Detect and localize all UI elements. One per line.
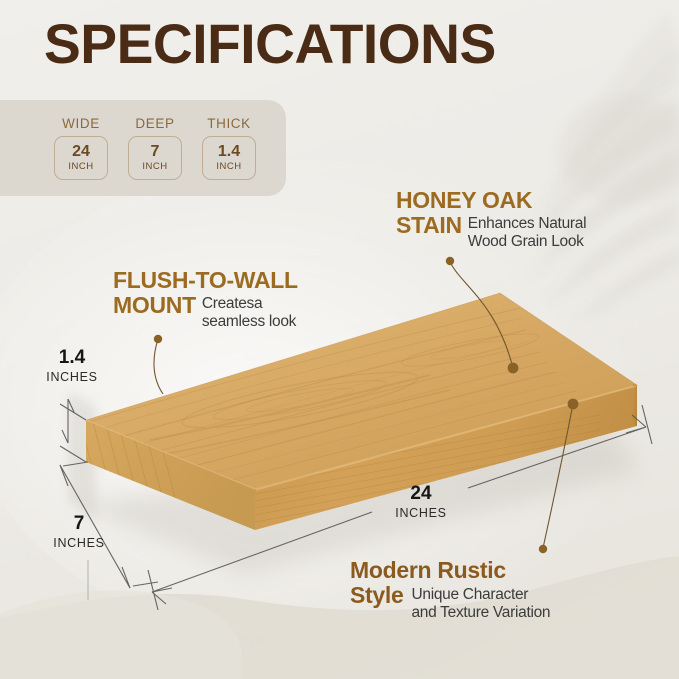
spec-unit-wide: INCH [68, 162, 93, 172]
dimension-unit-depth: INCHES [48, 536, 110, 550]
callout-honey-heading-line1: HONEY OAK [396, 188, 666, 213]
shelf-right-end-face [633, 384, 637, 426]
callout-modern-rustic-style: Modern Rustic Style Unique Character and… [350, 558, 650, 623]
leader-dot-rustic-surface [568, 399, 579, 410]
infographic-canvas: SPECIFICATIONS WIDE 24 INCH DEEP 7 INCH … [0, 0, 679, 679]
spec-value-thick: 1.4 [218, 144, 240, 160]
leader-dot-flush-mount [154, 335, 162, 343]
callout-rustic-sub-line2: and Texture Variation [411, 604, 550, 621]
callout-flush-sub: Createsa seamless look [202, 293, 296, 332]
dimension-unit-width: INCHES [382, 506, 460, 520]
dimension-value-depth: 7 [48, 514, 110, 533]
dimension-value-width: 24 [382, 484, 460, 503]
callout-rustic-heading: Modern Rustic Style Unique Character and… [350, 558, 650, 623]
callout-honey-oak-stain: HONEY OAK STAIN Enhances Natural Wood Gr… [396, 188, 666, 252]
spec-box-deep: 7 INCH [128, 136, 182, 180]
dimension-label-depth: 7 INCHES [48, 514, 110, 550]
callout-flush-sub-line1: Createsa [202, 295, 263, 312]
callout-flush-to-wall-mount: FLUSH-TO-WALL MOUNT Createsa seamless lo… [113, 268, 403, 332]
dimension-label-width: 24 INCHES [382, 484, 460, 520]
callout-honey-heading: HONEY OAK STAIN Enhances Natural Wood Gr… [396, 188, 666, 252]
callout-flush-heading-line1: FLUSH-TO-WALL [113, 267, 298, 293]
callout-honey-heading-line2: STAIN [396, 213, 462, 238]
shelf-left-end-face [86, 420, 255, 530]
callout-rustic-heading-line1: Modern Rustic [350, 557, 506, 583]
spec-cell-deep: DEEP 7 INCH [126, 116, 184, 180]
spec-cell-wide: WIDE 24 INCH [52, 116, 110, 180]
spec-unit-deep: INCH [142, 162, 167, 172]
spec-label-thick: THICK [207, 116, 251, 131]
callout-flush-sub-line2: seamless look [202, 313, 296, 330]
spec-value-deep: 7 [151, 144, 160, 160]
spec-label-deep: DEEP [135, 116, 174, 131]
spec-label-wide: WIDE [62, 116, 100, 131]
callout-rustic-heading-line2: Style [350, 583, 403, 608]
callout-honey-sub: Enhances Natural Wood Grain Look [468, 213, 586, 252]
dimension-unit-thickness: INCHES [38, 370, 106, 384]
spec-value-wide: 24 [72, 144, 90, 160]
callout-honey-sub-line2: Wood Grain Look [468, 233, 584, 250]
dimension-label-thickness: 1.4 INCHES [38, 348, 106, 384]
leader-dot-honey-oak-label [446, 257, 454, 265]
callout-rustic-sub: Unique Character and Texture Variation [411, 583, 550, 623]
spec-unit-thick: INCH [216, 162, 241, 172]
spec-cell-thick: THICK 1.4 INCH [200, 116, 258, 180]
leader-dot-rustic-label [539, 545, 547, 553]
callout-rustic-sub-line1: Unique Character [411, 586, 528, 603]
callout-honey-sub-line1: Enhances Natural [468, 215, 586, 232]
spec-box-wide: 24 INCH [54, 136, 108, 180]
callout-flush-heading-line2: MOUNT [113, 293, 196, 318]
callout-flush-heading: FLUSH-TO-WALL MOUNT Createsa seamless lo… [113, 268, 403, 332]
specs-row: WIDE 24 INCH DEEP 7 INCH THICK 1.4 INCH [52, 116, 258, 180]
leader-dot-honey-oak-surface [508, 363, 519, 374]
page-title: SPECIFICATIONS [44, 16, 655, 72]
dimension-value-thickness: 1.4 [38, 348, 106, 367]
spec-box-thick: 1.4 INCH [202, 136, 256, 180]
